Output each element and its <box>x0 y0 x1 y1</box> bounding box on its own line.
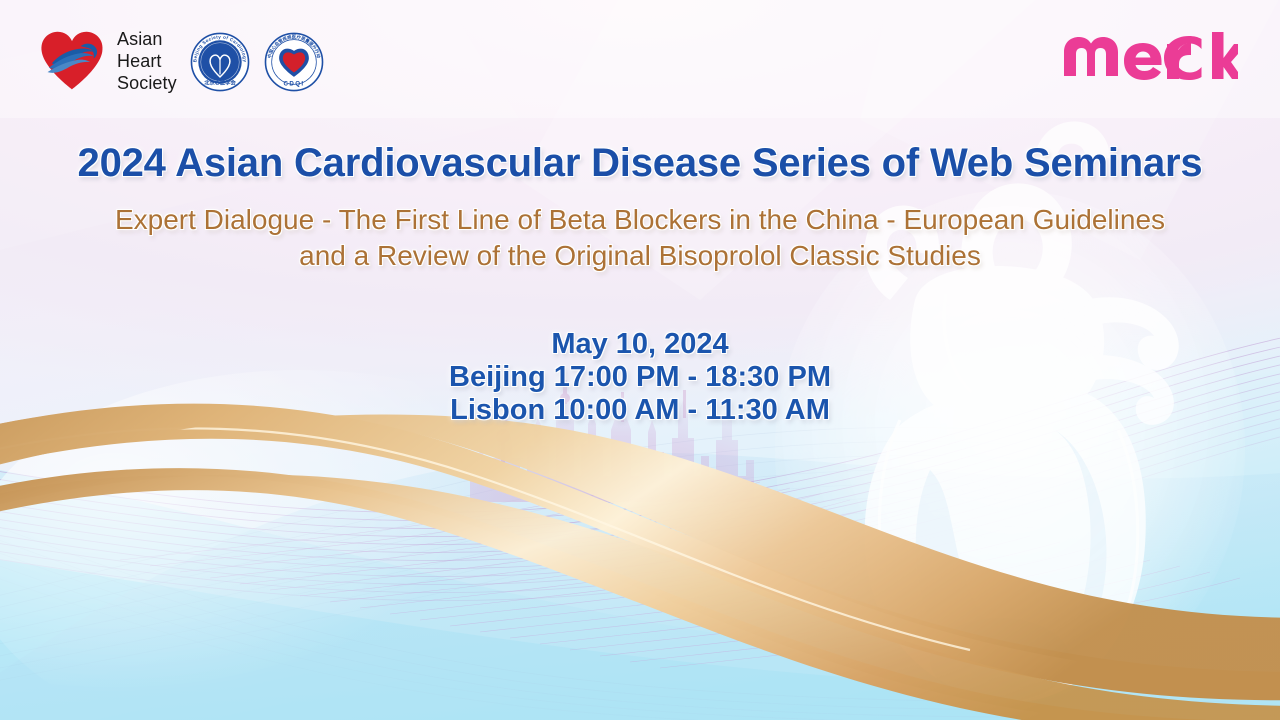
beijing-society-of-cardiology-seal: Beijing Society of Cardiology 北京心脏学会 <box>189 31 251 93</box>
subtitle-line-2: and a Review of the Original Bisoprolol … <box>80 238 1200 274</box>
svg-text:CDQI: CDQI <box>283 81 304 88</box>
subtitle-line-1: Expert Dialogue - The First Line of Beta… <box>80 202 1200 238</box>
line-waves-left-cross <box>0 520 1280 720</box>
page-title: 2024 Asian Cardiovascular Disease Series… <box>0 141 1280 186</box>
asian-heart-society-logo: Asian Heart Society <box>36 26 177 98</box>
webinar-poster: Asian Heart Society Beijing Society of C… <box>0 0 1280 720</box>
ahs-line-3: Society <box>117 73 177 95</box>
schedule-block: May 10, 2024 Beijing 17:00 PM - 18:30 PM… <box>449 328 831 427</box>
gold-ribbon-secondary <box>0 474 1280 720</box>
ahs-line-2: Heart <box>117 51 177 73</box>
event-time-beijing: Beijing 17:00 PM - 18:30 PM <box>449 361 831 394</box>
gold-ribbon-main <box>0 405 1280 680</box>
page-subtitle: Expert Dialogue - The First Line of Beta… <box>80 202 1200 274</box>
event-date: May 10, 2024 <box>449 328 831 361</box>
ahs-line-1: Asian <box>117 29 177 51</box>
heart-wave-icon <box>36 26 108 98</box>
pink-line-wave-crosshatch <box>120 470 1240 668</box>
line-waves-left <box>0 427 1035 684</box>
cdqi-seal: 中国心血管疾病医疗质量提升行动 CDQI <box>263 31 325 93</box>
asian-heart-society-wordmark: Asian Heart Society <box>117 29 177 95</box>
logo-bar: Asian Heart Society Beijing Society of C… <box>36 26 325 98</box>
event-time-lisbon: Lisbon 10:00 AM - 11:30 AM <box>449 394 831 427</box>
merck-logo <box>1062 32 1238 82</box>
